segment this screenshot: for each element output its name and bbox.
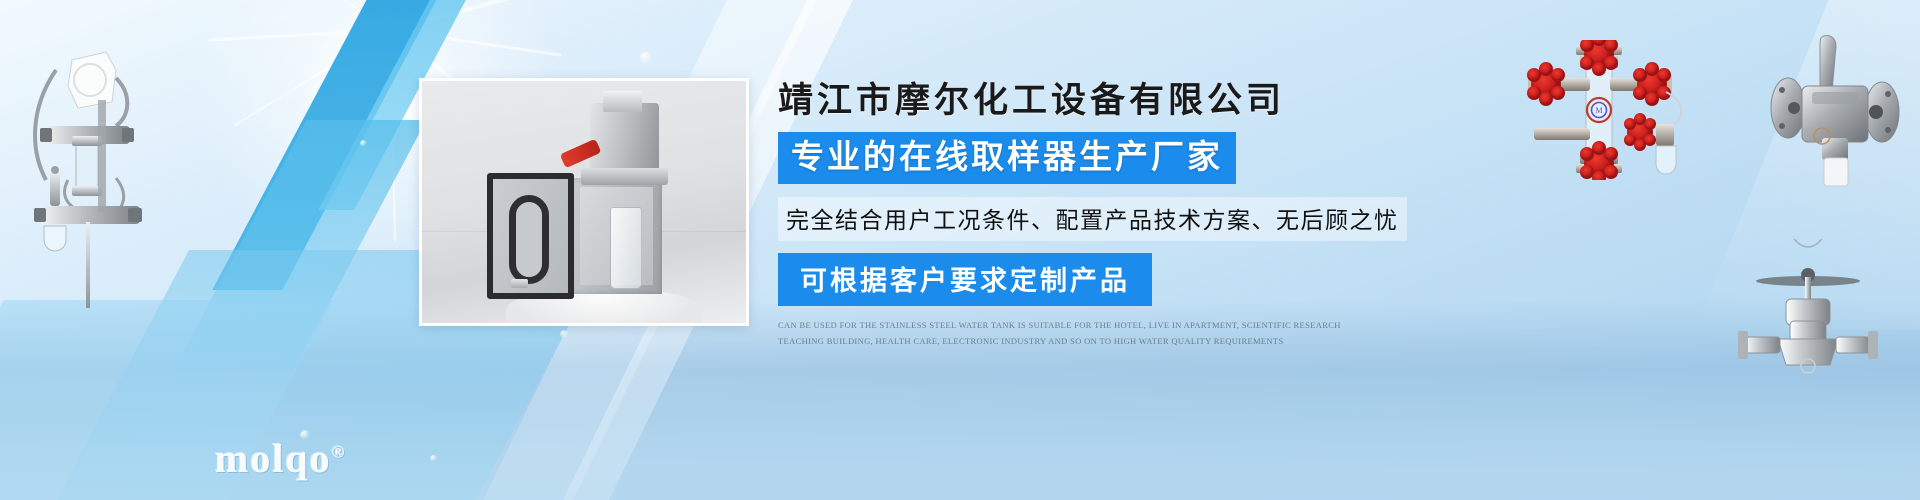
watermark-logo: molqo®: [215, 435, 346, 482]
tagline-sub: 可根据客户要求定制产品: [778, 253, 1152, 306]
center-product-photo: [419, 78, 749, 326]
right-product-valve-body: [1760, 30, 1910, 200]
right-product-cross-sampler: M: [1500, 40, 1700, 180]
company-name: 靖江市摩尔化工设备有限公司: [778, 72, 1418, 123]
watermark-text: molqo: [215, 436, 332, 481]
water-bubble: [640, 52, 653, 65]
left-product-sampler-probe: [20, 30, 180, 310]
photo-cabinet-door: [487, 173, 574, 299]
svg-text:M: M: [1595, 106, 1602, 115]
tagline-main: 专业的在线取样器生产厂家: [778, 132, 1236, 184]
watermark-registered-mark: ®: [332, 443, 347, 462]
water-bubble: [360, 140, 367, 147]
promo-banner: M: [0, 0, 1920, 500]
photo-valve-flange: [581, 168, 668, 185]
photo-door-latch: [511, 279, 528, 288]
photo-door-window: [509, 195, 548, 284]
photo-valve-top: [603, 91, 642, 113]
banner-copy: 靖江市摩尔化工设备有限公司 专业的在线取样器生产厂家 完全结合用户工况条件、配置…: [778, 72, 1418, 350]
right-product-needle-valve: [1720, 225, 1895, 390]
photo-background: [422, 81, 746, 323]
feature-line: 完全结合用户工况条件、配置产品技术方案、无后顾之忧: [778, 197, 1407, 241]
photo-sample-bottle: [610, 207, 642, 289]
english-description: CAN BE USED FOR THE STAINLESS STEEL WATE…: [778, 317, 1388, 350]
